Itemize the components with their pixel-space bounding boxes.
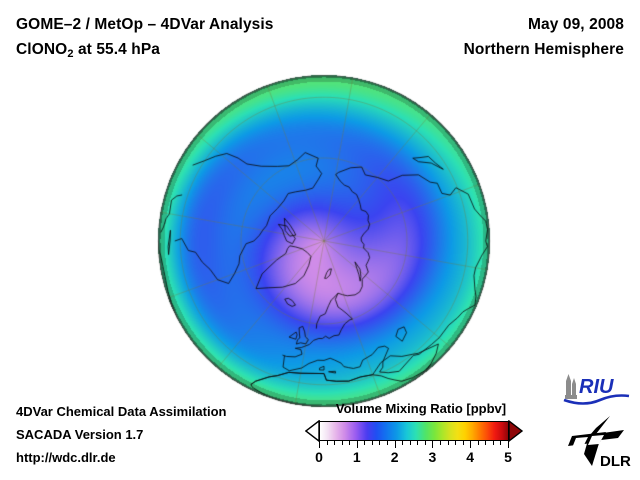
svg-text:RIU: RIU xyxy=(579,376,614,398)
species-level: at 55.4 hPa xyxy=(74,41,161,58)
colorbar-gradient xyxy=(319,421,509,441)
colorbar-ticks xyxy=(319,441,509,448)
globe-canvas xyxy=(156,73,492,409)
region-label: Northern Hemisphere xyxy=(464,41,624,59)
instrument-title: GOME–2 / MetOp – 4DVar Analysis xyxy=(16,16,274,34)
colorbar-row xyxy=(305,420,537,442)
species-title: ClONO2 at 55.4 hPa xyxy=(16,41,160,60)
globe-map xyxy=(156,73,492,409)
colorbar-tick-4: 4 xyxy=(466,449,474,465)
colorbar-tick-0: 0 xyxy=(315,449,323,465)
footer-method: 4DVar Chemical Data Assimilation xyxy=(16,404,227,419)
dlr-wordmark: DLR xyxy=(600,453,631,470)
colorbar-tick-1: 1 xyxy=(353,449,361,465)
colorbar-tick-3: 3 xyxy=(428,449,436,465)
colorbar-tick-5: 5 xyxy=(504,449,512,465)
species-name: ClONO xyxy=(16,41,67,58)
colorbar-tick-2: 2 xyxy=(391,449,399,465)
footer-version: SACADA Version 1.7 xyxy=(16,427,143,442)
riu-logo: RIU xyxy=(560,371,632,410)
colorbar-title: Volume Mixing Ratio [ppbv] xyxy=(305,401,537,416)
date-label: May 09, 2008 xyxy=(528,16,624,34)
dlr-logo: DLR xyxy=(566,414,636,475)
colorbar-over-arrow-icon xyxy=(508,420,524,442)
colorbar: Volume Mixing Ratio [ppbv] 012345 xyxy=(305,401,537,467)
riu-spire-icon xyxy=(565,374,577,399)
colorbar-tick-labels: 012345 xyxy=(305,449,537,467)
footer-url[interactable]: http://wdc.dlr.de xyxy=(16,450,116,465)
